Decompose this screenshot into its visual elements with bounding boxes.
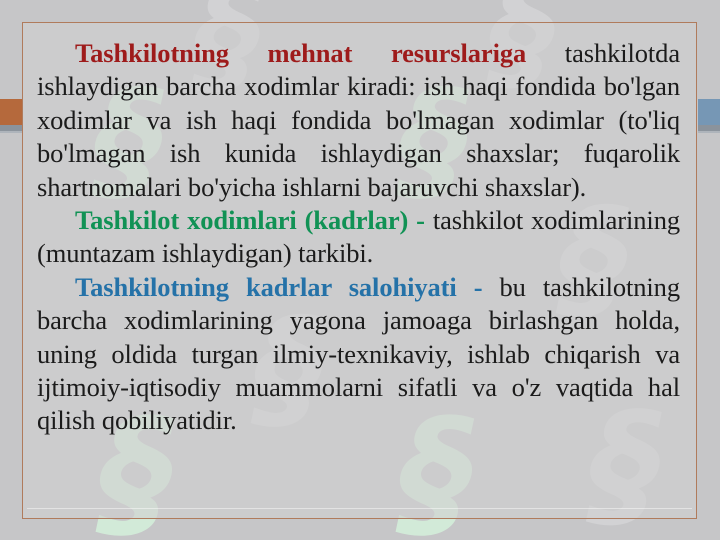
right-accent-underbar — [698, 125, 720, 133]
paragraph-tashkilot-xodimlari: Tashkilot xodimlari (kadrlar) - tashkilo… — [37, 204, 680, 271]
left-accent-bar — [0, 99, 22, 125]
slide-text-body: Tashkilotning mehnat resurslariga tashki… — [23, 23, 696, 438]
content-frame: Tashkilotning mehnat resurslariga tashki… — [22, 22, 697, 519]
paragraph-kadrlar-salohiyati: Tashkilotning kadrlar salohiyati - bu ta… — [37, 271, 680, 438]
right-accent-bar — [698, 99, 720, 125]
paragraph-mehnat-resurslari: Tashkilotning mehnat resurslariga tashki… — [37, 37, 680, 204]
frame-bottom-hairline — [27, 508, 692, 509]
presentation-slide: § § § § § § § § § Tashkilotning mehnat r… — [0, 0, 720, 540]
term-mehnat-resurslariga: Tashkilotning mehnat resurslariga — [75, 38, 526, 68]
left-accent-underbar — [0, 125, 22, 133]
term-tashkilot-xodimlari: Tashkilot xodimlari (kadrlar) - — [75, 205, 425, 235]
term-kadrlar-salohiyati: Tashkilotning kadrlar salohiyati - — [75, 272, 482, 302]
